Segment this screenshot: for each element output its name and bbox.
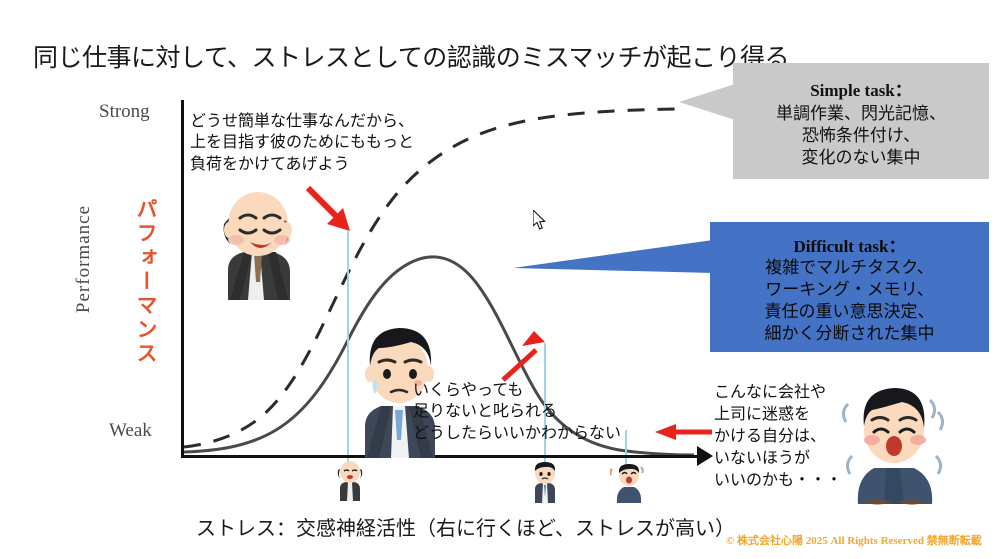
copyright-notice: © 株式会社心陽 2025 All Rights Reserved 禁無断転載 xyxy=(726,532,982,548)
difficult-callout-tail xyxy=(513,240,713,273)
axis-figure-burnout xyxy=(610,461,644,503)
simple-task-line-1: 単調作業、閃光記憶、 xyxy=(733,103,989,125)
boss-illustration xyxy=(196,190,316,300)
difficult-task-line-4: 細かく分断された集中 xyxy=(710,324,989,346)
boss-speech-text: どうせ簡単な仕事なんだから、 上を目指す彼のためにももっと 負荷をかけてあげよう xyxy=(190,110,414,174)
simple-task-title: Simple task： xyxy=(733,76,989,101)
y-axis-bottom-label: Weak xyxy=(109,420,152,442)
y-axis-line xyxy=(181,100,184,457)
mouse-cursor xyxy=(533,210,547,230)
simple-task-line-3: 変化のない集中 xyxy=(733,147,989,169)
simple-callout-tail xyxy=(679,84,735,120)
axis-figure-worker xyxy=(530,461,560,503)
difficult-task-callout: Difficult task： 複雑でマルチタスク、 ワーキング・メモリ、 責任… xyxy=(710,222,989,352)
axis-figure-boss xyxy=(334,461,366,501)
burnout-speech-text: こんなに会社や 上司に迷惑を かける自分は、 いないほうが いいのかも・・・ xyxy=(714,381,842,491)
worker-speech-text: いくらやっても 足りないと叱られる どうしたらいいかわからない xyxy=(413,379,621,443)
difficult-task-line-3: 責任の重い意思決定、 xyxy=(710,302,989,324)
difficult-task-title: Difficult task： xyxy=(710,232,989,257)
y-axis-title-en: Performance xyxy=(73,205,95,313)
slide-canvas: 同じ仕事に対して、ストレスとしての認識のミスマッチが起こり得る xyxy=(0,0,1000,559)
y-axis-top-label: Strong xyxy=(99,101,150,123)
burnout-illustration xyxy=(834,382,954,507)
y-axis-title-jp: パフォーマンス xyxy=(131,198,161,366)
simple-task-callout: Simple task： 単調作業、閃光記憶、 恐怖条件付け、 変化のない集中 xyxy=(733,63,989,179)
difficult-task-line-2: ワーキング・メモリ、 xyxy=(710,280,989,302)
red-arrow-to-burnout xyxy=(655,424,712,440)
simple-task-line-2: 恐怖条件付け、 xyxy=(733,125,989,147)
x-axis-title: ストレス：交感神経活性（右に行くほど、ストレスが高い） xyxy=(196,512,735,541)
difficult-task-line-1: 複雑でマルチタスク、 xyxy=(710,258,989,280)
x-axis-arrowhead xyxy=(697,446,713,466)
